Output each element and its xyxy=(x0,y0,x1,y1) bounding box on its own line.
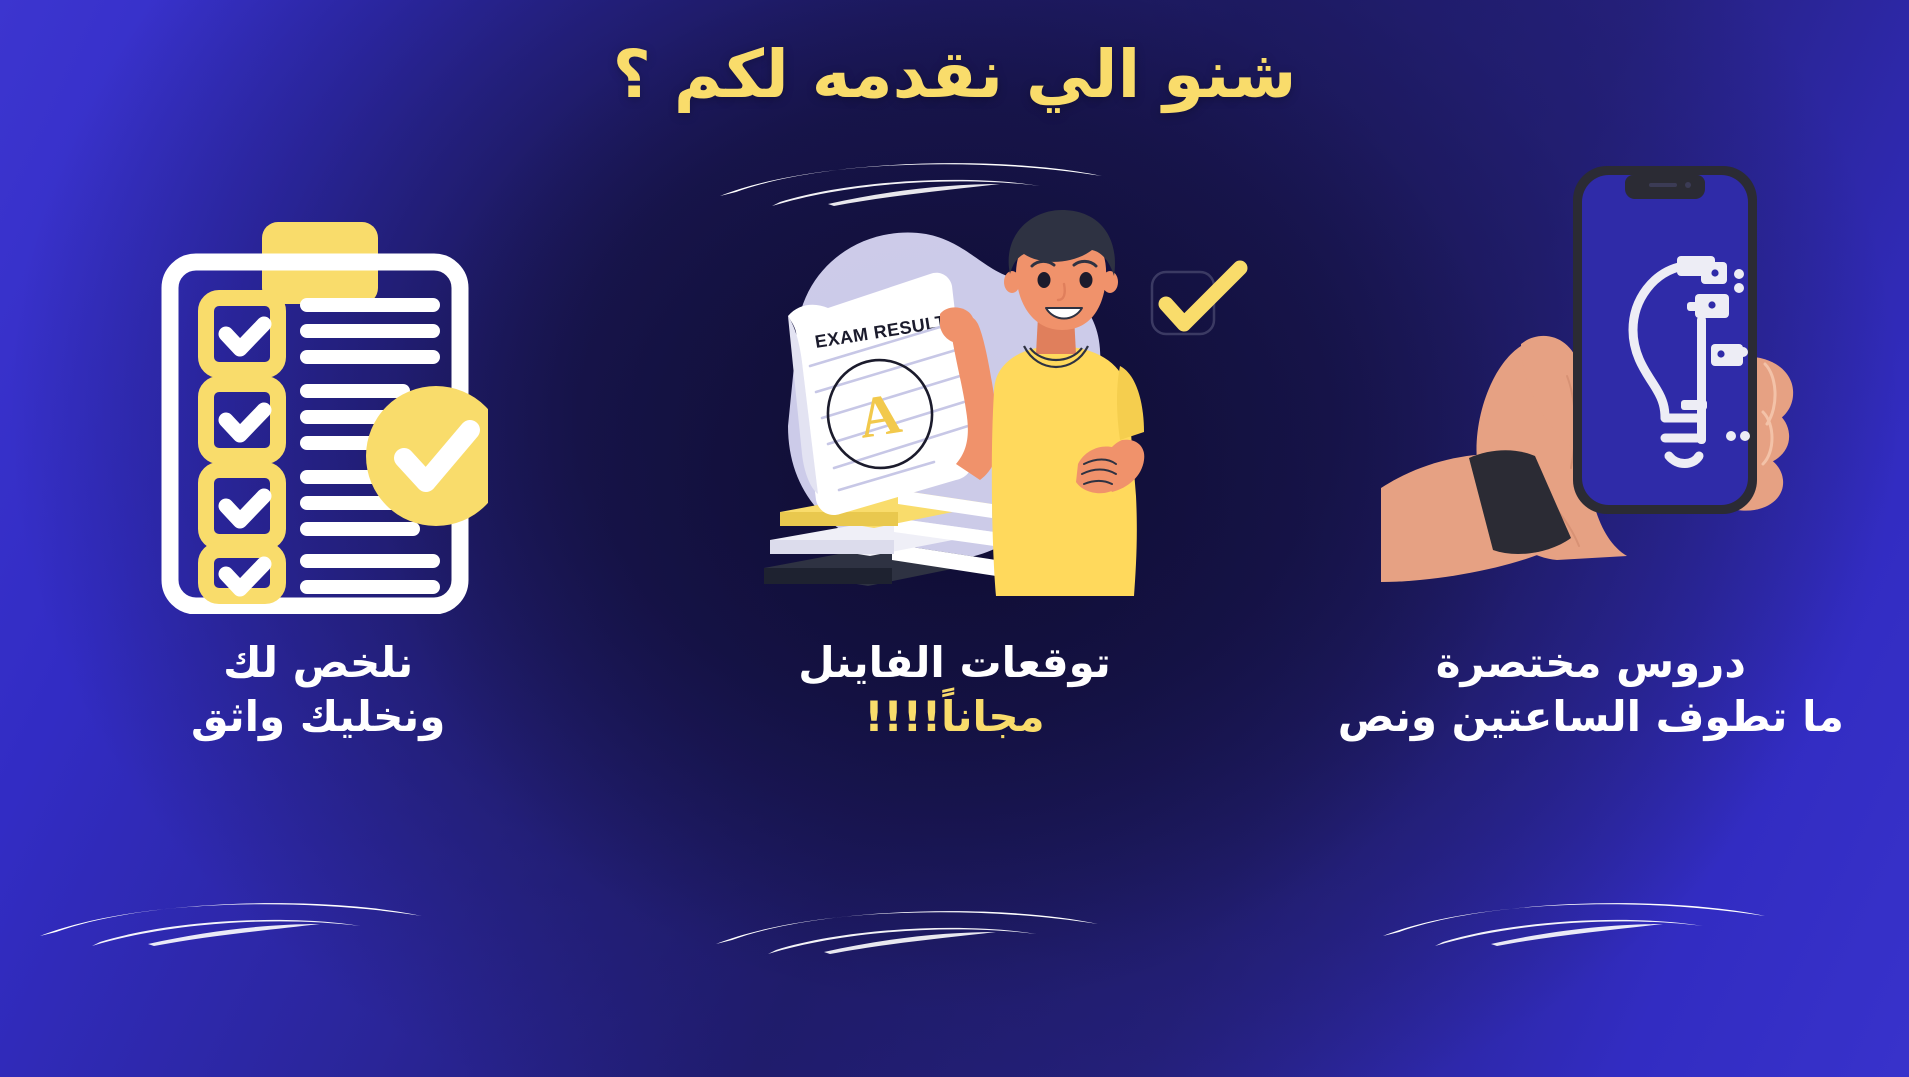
check-square-icon xyxy=(1150,258,1254,354)
feature-column-summaries: نلخص لك ونخليك واثق xyxy=(0,196,636,936)
phone-art xyxy=(1273,196,1909,626)
clipboard-art xyxy=(0,196,636,626)
caption-line-2: ما تطوف الساعتين ونص xyxy=(1338,692,1844,741)
caption-summaries: نلخص لك ونخليك واثق xyxy=(191,636,445,744)
clipboard-checklist-icon xyxy=(148,214,488,614)
caption-line-1: نلخص لك xyxy=(223,638,413,687)
swoosh-col-left xyxy=(30,888,430,948)
caption-line-1: دروس مختصرة xyxy=(1436,638,1746,687)
exam-result-paper: EXAM RESULT xyxy=(788,273,972,515)
caption-short-lessons: دروس مختصرة ما تطوف الساعتين ونص xyxy=(1338,636,1844,744)
promo-banner: شنو الي نقدمه لكم ؟ xyxy=(0,0,1909,1077)
feature-columns: نلخص لك ونخليك واثق xyxy=(0,196,1909,936)
caption-line-1: توقعات الفاينل xyxy=(798,638,1110,687)
caption-line-2: مجاناً!!!! xyxy=(798,690,1110,744)
hand-holding-phone-icon xyxy=(1381,162,1801,602)
page-title: شنو الي نقدمه لكم ؟ xyxy=(0,36,1909,113)
swoosh-col-right xyxy=(1373,888,1773,948)
student-exam-result-icon: EXAM RESULT xyxy=(744,196,1164,616)
student-art: EXAM RESULT xyxy=(636,196,1272,626)
swoosh-col-center xyxy=(706,896,1106,956)
books-icon xyxy=(764,490,996,586)
caption-line-2: ونخليك واثق xyxy=(191,692,445,741)
feature-column-short-lessons: دروس مختصرة ما تطوف الساعتين ونص xyxy=(1273,196,1909,936)
caption-final-predictions: توقعات الفاينل مجاناً!!!! xyxy=(798,636,1110,744)
feature-column-final-predictions: EXAM RESULT xyxy=(636,196,1272,936)
